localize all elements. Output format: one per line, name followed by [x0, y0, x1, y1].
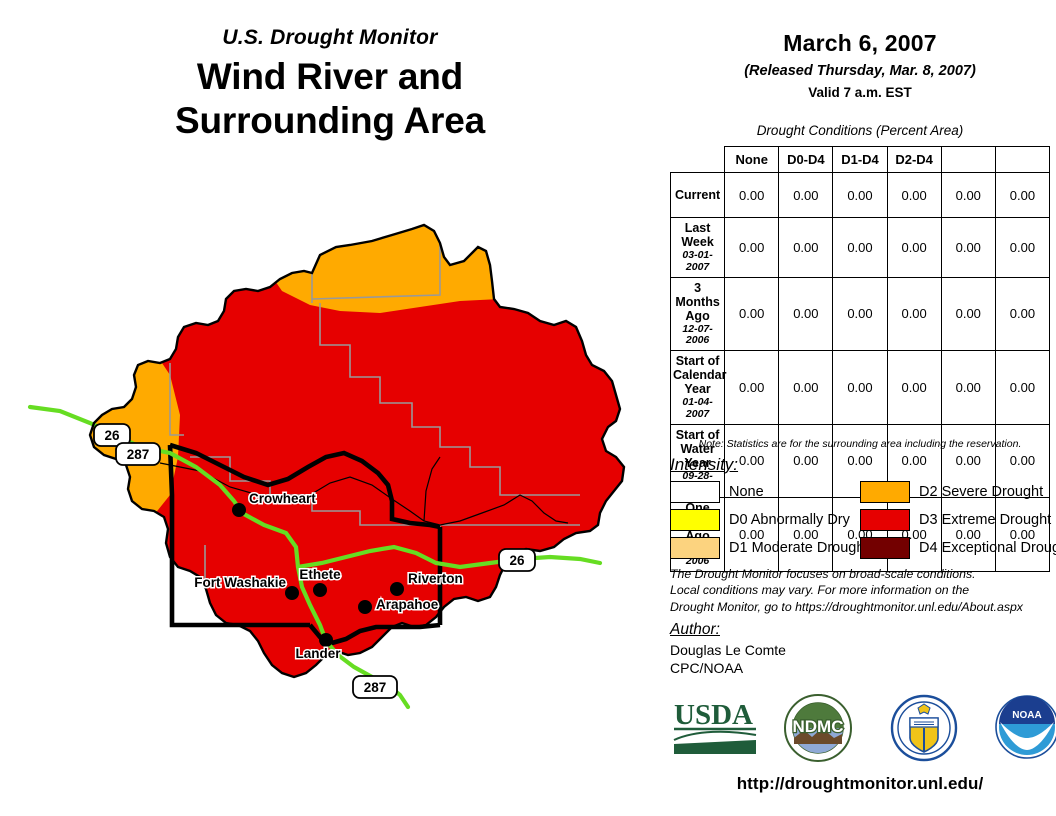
intensity-swatch: [860, 481, 910, 503]
table-cell-value: 0.00: [941, 173, 995, 218]
table-cell-value: 0.00: [779, 173, 833, 218]
city-label-lander: Lander: [295, 646, 341, 661]
row-label-date: 12-07-2006: [673, 324, 722, 348]
author-org: CPC/NOAA: [670, 660, 743, 676]
release-date: (Released Thursday, Mar. 8, 2007): [664, 63, 1056, 79]
table-cell-value: 0.00: [725, 218, 779, 278]
table-corner-cell: [671, 147, 725, 173]
table-cell-value: 0.00: [779, 351, 833, 425]
table-cell-value: 0.00: [725, 173, 779, 218]
table-header-row: None D0-D4 D1-D4 D2-D4 D3-D4 D4: [671, 147, 1050, 173]
table-cell-value: 0.00: [941, 351, 995, 425]
legend-label: None: [729, 484, 764, 500]
row-label: Last Week03-01-2007: [671, 218, 725, 278]
city-label-fort-washakie: Fort Washakie: [194, 575, 286, 590]
intensity-swatch: [860, 509, 910, 531]
valid-time: Valid 7 a.m. EST: [664, 85, 1056, 100]
table-cell-value: 0.00: [779, 218, 833, 278]
table-cell-value: 0.00: [941, 277, 995, 351]
usda-wordmark: USDA: [674, 699, 753, 731]
disclaimer-line-3: Drought Monitor, go to https://droughtmo…: [670, 599, 1056, 615]
legend-item: None: [670, 480, 868, 504]
legend-label: D1 Moderate Drought: [729, 540, 868, 556]
program-title: U.S. Drought Monitor: [0, 26, 660, 49]
intensity-heading: Intensity:: [670, 455, 738, 475]
legend-column-left: NoneD0 Abnormally DryD1 Moderate Drought: [670, 480, 868, 564]
row-label: Current: [671, 173, 725, 218]
legend-column-right: D2 Severe DroughtD3 Extreme DroughtD4 Ex…: [860, 480, 1056, 564]
row-label-text: 3 Months Ago: [673, 281, 722, 323]
row-label-text: Start ofCalendar Year: [673, 354, 722, 396]
col-header-d3-d4: D3-D4: [941, 147, 995, 173]
intensity-swatch: [670, 509, 720, 531]
highway-shield-287-west: 287: [116, 443, 160, 465]
city-dot: [285, 586, 299, 600]
row-label-text: Current: [673, 188, 722, 202]
intensity-swatch: [670, 537, 720, 559]
drought-monitor-page: U.S. Drought Monitor Wind River and Surr…: [0, 0, 1056, 816]
disclaimer-text: The Drought Monitor focuses on broad-sca…: [670, 566, 1056, 615]
legend-label: D2 Severe Drought: [919, 484, 1043, 500]
highway-label: 287: [364, 680, 387, 695]
col-header-d2-d4: D2-D4: [887, 147, 941, 173]
title-block: U.S. Drought Monitor Wind River and Surr…: [0, 26, 660, 142]
table-cell-value: 0.00: [995, 173, 1049, 218]
legend-item: D2 Severe Drought: [860, 480, 1056, 504]
table-cell-value: 0.00: [833, 277, 887, 351]
map-date: March 6, 2007: [664, 30, 1056, 57]
ndmc-wordmark: NDMC: [793, 717, 844, 736]
author-name: Douglas Le Comte: [670, 642, 786, 658]
intensity-swatch: [860, 537, 910, 559]
legend-label: D3 Extreme Drought: [919, 512, 1051, 528]
city-dot: [358, 600, 372, 614]
table-cell-value: 0.00: [887, 218, 941, 278]
drought-map: Crowheart Fort Washakie Ethete Riverton …: [20, 195, 660, 795]
legend-label: D0 Abnormally Dry: [729, 512, 850, 528]
table-cell-value: 0.00: [995, 218, 1049, 278]
noaa-wordmark: NOAA: [1012, 710, 1041, 721]
city-dot: [313, 583, 327, 597]
area-title-line2: Surrounding Area: [0, 99, 660, 143]
city-dot: [232, 503, 246, 517]
city-dot: [390, 582, 404, 596]
col-header-d4: D4: [995, 147, 1049, 173]
table-cell-value: 0.00: [779, 277, 833, 351]
table-cell-value: 0.00: [887, 351, 941, 425]
table-cell-value: 0.00: [725, 277, 779, 351]
col-header-d1-d4: D1-D4: [833, 147, 887, 173]
author-heading: Author:: [670, 621, 720, 639]
table-row: Last Week03-01-20070.000.000.000.000.000…: [671, 218, 1050, 278]
row-label-date: 01-04-2007: [673, 397, 722, 421]
col-header-d0-d4: D0-D4: [779, 147, 833, 173]
row-label-date: 03-01-2007: [673, 250, 722, 274]
row-label: 3 Months Ago12-07-2006: [671, 277, 725, 351]
city-label-arapahoe: Arapahoe: [376, 597, 439, 612]
legend-item: D0 Abnormally Dry: [670, 508, 868, 532]
city-label-crowheart: Crowheart: [249, 491, 316, 506]
table-cell-value: 0.00: [995, 277, 1049, 351]
legend-item: D4 Exceptional Drought: [860, 536, 1056, 560]
highway-label: 287: [127, 447, 150, 462]
table-cell-value: 0.00: [833, 218, 887, 278]
city-label-ethete: Ethete: [299, 567, 341, 582]
table-row: 3 Months Ago12-07-20060.000.000.000.000.…: [671, 277, 1050, 351]
table-cell-value: 0.00: [833, 173, 887, 218]
usdc-seal-logo: [888, 694, 960, 762]
table-cell-value: 0.00: [887, 277, 941, 351]
table-row: Start ofCalendar Year01-04-20070.000.000…: [671, 351, 1050, 425]
table-cell-value: 0.00: [725, 351, 779, 425]
row-label: Start ofCalendar Year01-04-2007: [671, 351, 725, 425]
city-dot: [319, 633, 333, 647]
usda-logo: USDA: [672, 694, 758, 756]
right-panel: March 6, 2007 (Released Thursday, Mar. 8…: [664, 0, 1056, 816]
highway-shield-26-east: 26: [499, 549, 535, 571]
col-header-none: None: [725, 147, 779, 173]
area-title-line1: Wind River and: [0, 55, 660, 99]
table-cell-value: 0.00: [995, 351, 1049, 425]
noaa-logo: NOAA: [994, 694, 1056, 760]
disclaimer-line-2: Local conditions may vary. For more info…: [670, 582, 1056, 598]
table-note: Note: Statistics are for the surrounding…: [670, 438, 1050, 450]
legend-label: D4 Exceptional Drought: [919, 540, 1056, 556]
city-label-riverton: Riverton: [408, 571, 463, 586]
highway-shield-287-south: 287: [353, 676, 397, 698]
highway-label: 26: [509, 553, 525, 568]
table-cell-value: 0.00: [887, 173, 941, 218]
table-cell-value: 0.00: [941, 218, 995, 278]
map-svg: Crowheart Fort Washakie Ethete Riverton …: [20, 195, 660, 795]
ndmc-logo: NDMC: [782, 694, 854, 762]
legend-item: D3 Extreme Drought: [860, 508, 1056, 532]
table-caption: Drought Conditions (Percent Area): [664, 123, 1056, 138]
row-label-text: Last Week: [673, 221, 722, 249]
website-url[interactable]: http://droughtmonitor.unl.edu/: [664, 774, 1056, 794]
highway-label: 26: [104, 428, 120, 443]
intensity-swatch: [670, 481, 720, 503]
disclaimer-line-1: The Drought Monitor focuses on broad-sca…: [670, 566, 1056, 582]
legend-item: D1 Moderate Drought: [670, 536, 868, 560]
logo-row: USDA NDMC: [664, 694, 1056, 764]
table-cell-value: 0.00: [833, 351, 887, 425]
table-row: Current0.000.000.000.000.000.00: [671, 173, 1050, 218]
